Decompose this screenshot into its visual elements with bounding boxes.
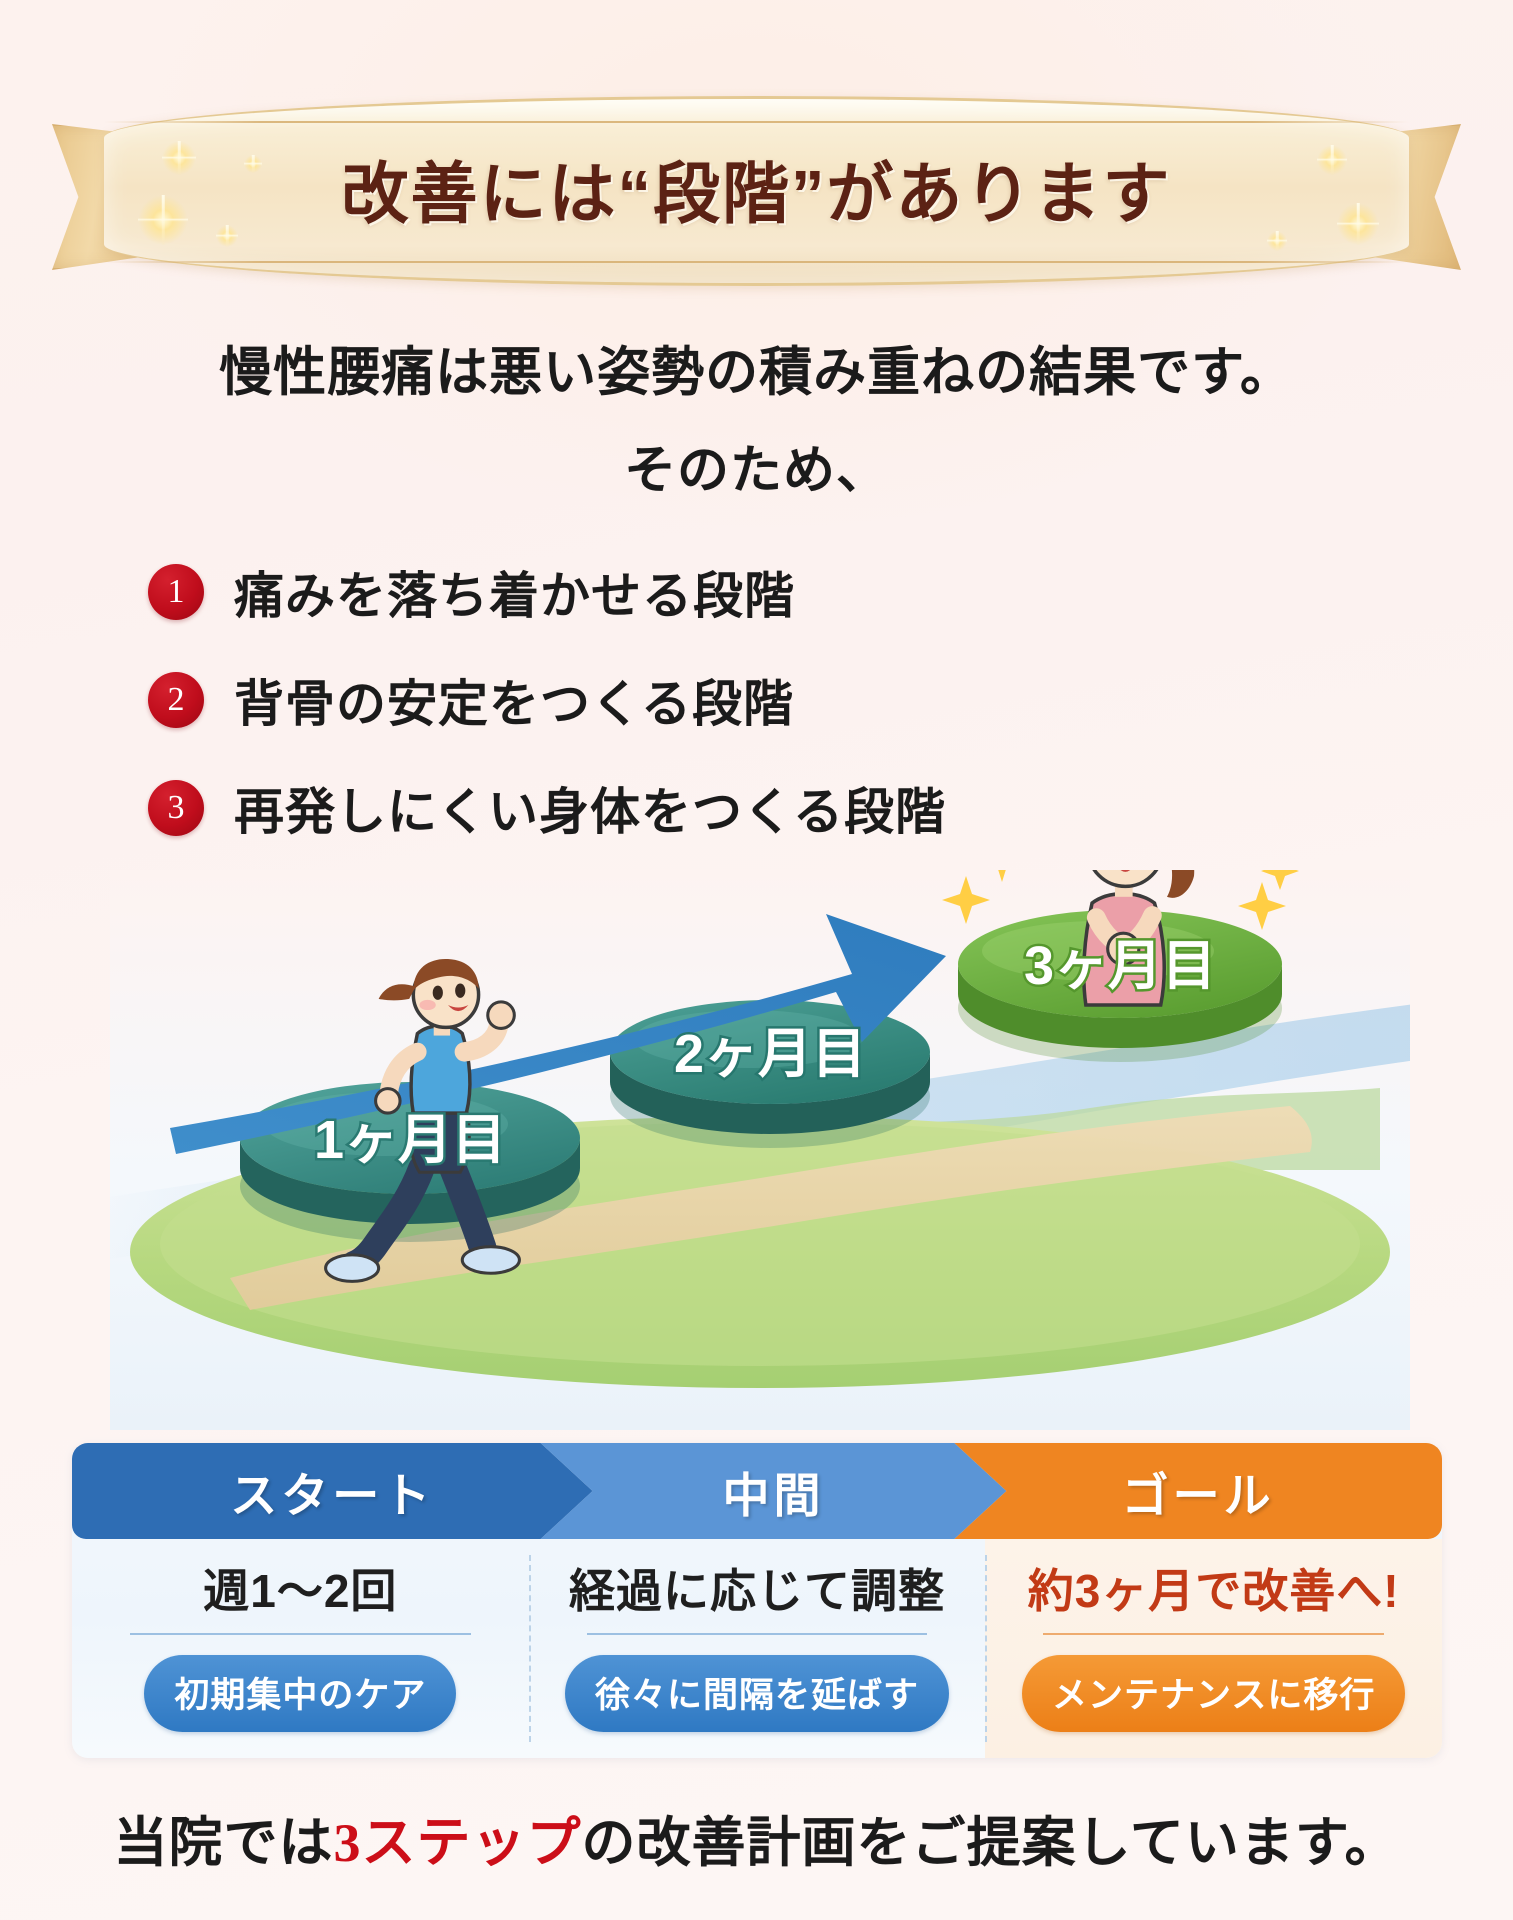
steps-list: 1 痛みを落ち着かせる段階 2 背骨の安定をつくる段階 3 再発しにくい身体をつ… [148, 538, 1248, 862]
closing-prefix: 当院では [114, 1813, 334, 1873]
timeline-column-middle: 経過に応じて調整 徐々に間隔を延ばす [529, 1539, 986, 1758]
phase-middle-label: 中間 [722, 1457, 824, 1526]
column-pill: 初期集中のケア [144, 1655, 456, 1732]
phase-goal: ゴール [954, 1443, 1442, 1539]
lead-line-2: そのため、 [0, 428, 1513, 503]
step-number-badge: 1 [148, 564, 204, 620]
timeline-column-goal: 約3ヶ月で改善へ! メンテナンスに移行 [985, 1539, 1442, 1758]
ribbon-banner: 改善には“段階”があります [0, 96, 1513, 286]
phase-start: スタート [72, 1443, 593, 1539]
column-headline: 約3ヶ月で改善へ! [1028, 1555, 1400, 1633]
column-pill: 徐々に間隔を延ばす [565, 1655, 949, 1732]
list-item: 2 背骨の安定をつくる段階 [148, 646, 1248, 754]
phase-chevron-bar: スタート 中間 ゴール [72, 1443, 1442, 1539]
step-number-badge: 3 [148, 780, 204, 836]
step-number-badge: 2 [148, 672, 204, 728]
page-title: 改善には“段階”があります [0, 140, 1513, 237]
list-item: 3 再発しにくい身体をつくる段階 [148, 754, 1248, 862]
stone-label-2: 2ヶ月目 [674, 1024, 866, 1084]
column-headline: 週1〜2回 [203, 1555, 397, 1633]
step-label: 痛みを落ち着かせる段階 [234, 556, 795, 628]
column-divider [587, 1633, 928, 1635]
closing-statement: 当院では3ステップの改善計画をご提案しています。 [0, 1798, 1513, 1877]
infographic-page: 改善には“段階”があります 慢性腰痛は悪い姿勢の積み重ねの結果です。 そのため、… [0, 0, 1513, 1920]
ribbon-line-top [104, 121, 1409, 123]
list-item: 1 痛みを落ち着かせる段階 [148, 538, 1248, 646]
illustration-svg: 1ヶ月目 2ヶ月目 3ヶ月目 [110, 870, 1410, 1430]
step-label: 再発しにくい身体をつくる段階 [234, 772, 946, 844]
phase-start-label: スタート [230, 1457, 434, 1526]
column-divider [1043, 1633, 1384, 1635]
column-headline: 経過に応じて調整 [569, 1555, 945, 1633]
timeline-column-start: 週1〜2回 初期集中のケア [72, 1539, 529, 1758]
progress-illustration: 1ヶ月目 2ヶ月目 3ヶ月目 [110, 870, 1410, 1430]
phase-middle: 中間 [541, 1443, 1007, 1539]
stone-label-1: 1ヶ月目 [314, 1110, 506, 1170]
timeline-card: スタート 中間 ゴール 週1〜2回 初期集中のケア 経過に応じて調整 徐々に間隔… [72, 1443, 1442, 1758]
closing-highlight: 3ステップ [334, 1813, 582, 1873]
phase-goal-label: ゴール [1122, 1457, 1275, 1526]
column-divider [130, 1633, 471, 1635]
closing-suffix: の改善計画をご提案しています。 [582, 1813, 1400, 1873]
lead-line-1: 慢性腰痛は悪い姿勢の積み重ねの結果です。 [0, 330, 1513, 406]
ribbon-line-bottom [104, 261, 1409, 263]
column-pill: メンテナンスに移行 [1022, 1655, 1405, 1732]
stone-label-3: 3ヶ月目 [1024, 936, 1216, 996]
step-label: 背骨の安定をつくる段階 [234, 664, 794, 736]
timeline-columns: 週1〜2回 初期集中のケア 経過に応じて調整 徐々に間隔を延ばす 約3ヶ月で改善… [72, 1539, 1442, 1758]
